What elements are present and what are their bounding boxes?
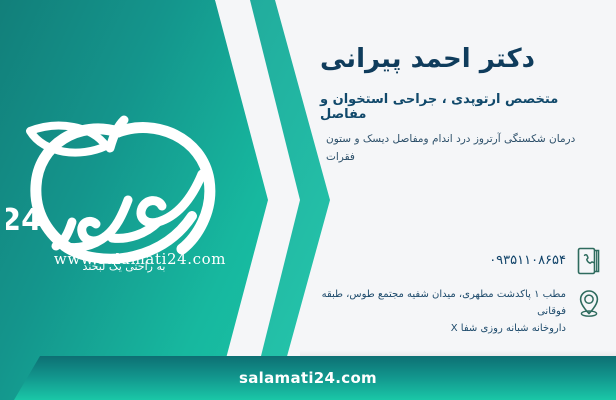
footer-shadow: [300, 350, 616, 356]
footer-website[interactable]: salamati24.com: [0, 356, 616, 400]
map-pin-icon: [576, 288, 602, 318]
doctor-description: درمان شکستگی آرتروز درد اندام ومفاصل دیس…: [326, 130, 594, 167]
doctor-specialty: متخصص ارتوپدی ، جراحی استخوان و مفاصل: [320, 92, 594, 122]
address-text: مطب ۱ پاکدشت مطهری، میدان شفیه مجتمع طوس…: [318, 286, 566, 337]
doctor-name: دکتر احمد پیرانی: [320, 44, 594, 74]
footer-bar: salamati24.com: [0, 356, 616, 400]
phone-row[interactable]: ۰۹۳۵۱۱۰۸۶۵۴: [489, 246, 602, 276]
address-line-2: داروخانه شبانه روزی شفا X: [451, 323, 566, 334]
phone-book-icon: [576, 246, 602, 276]
address-row[interactable]: مطب ۱ پاکدشت مطهری، میدان شفیه مجتمع طوس…: [318, 286, 602, 337]
address-line-1: مطب ۱ پاکدشت مطهری، میدان شفیه مجتمع طوس…: [322, 289, 566, 317]
business-card: 24 به راحتی یک لبخند www.salamati24.com …: [0, 0, 616, 400]
logo-badge-24: 24: [6, 203, 42, 238]
logo-website-url: www.salamati24.com: [40, 250, 240, 268]
phone-number: ۰۹۳۵۱۱۰۸۶۵۴: [489, 250, 566, 272]
card-details: دکتر احمد پیرانی متخصص ارتوپدی ، جراحی ا…: [300, 0, 616, 400]
